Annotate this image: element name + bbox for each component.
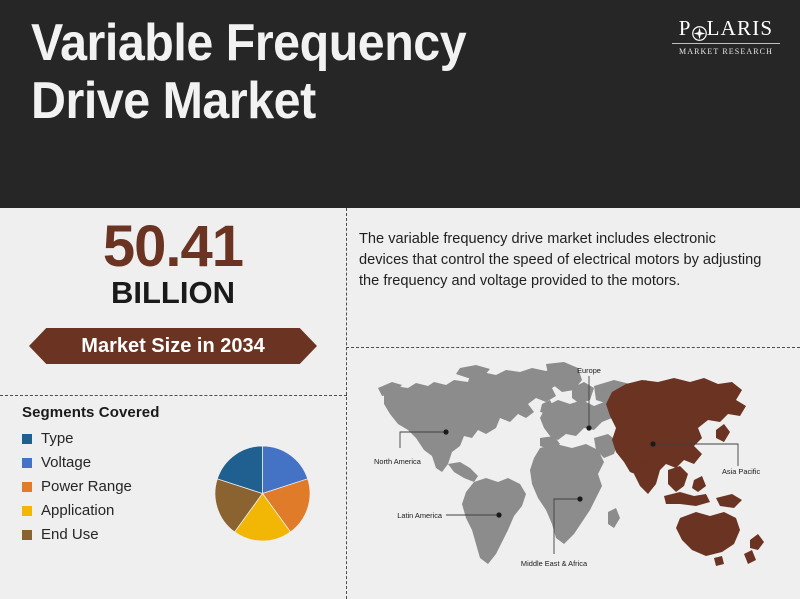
map-dot-middle-east-africa xyxy=(577,496,582,501)
legend-label-voltage: Voltage xyxy=(41,454,91,471)
world-map: North America Europe Asia Pacific Latin … xyxy=(350,352,800,599)
map-dot-asia-pacific xyxy=(650,441,655,446)
legend-swatch-power-range xyxy=(22,482,32,492)
pie-slices xyxy=(215,446,310,541)
horizontal-divider-left xyxy=(0,395,347,396)
list-item: Voltage xyxy=(22,454,202,471)
region-australia-shape xyxy=(676,512,740,556)
infographic-page: Variable Frequency Drive Market P LARIS … xyxy=(0,0,800,599)
map-label-middle-east-africa: Middle East & Africa xyxy=(521,559,588,568)
stat-unit: BILLION xyxy=(0,276,346,310)
region-new-zealand-shape xyxy=(750,534,764,550)
legend-label-power-range: Power Range xyxy=(41,478,132,495)
stat-value: 50.41 xyxy=(0,216,346,278)
page-title: Variable Frequency Drive Market xyxy=(31,14,608,130)
logo-wordmark: P LARIS xyxy=(670,16,782,40)
list-item: Type xyxy=(22,430,202,447)
map-dot-north-america xyxy=(443,429,448,434)
list-item: Power Range xyxy=(22,478,202,495)
legend-label-application: Application xyxy=(41,502,114,519)
market-size-ribbon: Market Size in 2034 xyxy=(29,328,317,364)
market-size-stat: 50.41 BILLION xyxy=(0,216,346,310)
region-south-america-shape xyxy=(462,478,526,564)
segments-pie-chart xyxy=(214,445,311,542)
map-label-europe: Europe xyxy=(577,366,601,375)
map-label-asia-pacific: Asia Pacific xyxy=(722,467,761,476)
region-central-america-shape xyxy=(448,462,478,482)
pie-chart-svg xyxy=(214,445,311,542)
region-new-zealand-south-shape xyxy=(744,550,756,564)
legend-swatch-application xyxy=(22,506,32,516)
legend-label-type: Type xyxy=(41,430,74,447)
map-label-latin-america: Latin America xyxy=(397,511,443,520)
legend-swatch-voltage xyxy=(22,458,32,468)
region-africa-shape xyxy=(530,444,604,544)
legend-label-end-use: End Use xyxy=(41,526,99,543)
logo-word-prefix: P xyxy=(679,16,692,40)
horizontal-divider-right xyxy=(346,347,800,348)
logo-word-suffix: LARIS xyxy=(707,16,774,40)
compass-star-icon xyxy=(692,22,707,37)
region-new-guinea-shape xyxy=(716,494,742,508)
vertical-divider xyxy=(346,208,347,599)
logo-divider xyxy=(672,43,780,44)
region-indonesia-shape xyxy=(664,492,710,506)
segments-covered-panel: Segments Covered Type Voltage Power Rang… xyxy=(22,404,202,550)
region-tasmania-shape xyxy=(714,556,724,566)
list-item: Application xyxy=(22,502,202,519)
list-item: End Use xyxy=(22,526,202,543)
region-india-shape xyxy=(634,462,660,494)
map-dot-latin-america xyxy=(496,512,501,517)
world-map-svg: North America Europe Asia Pacific Latin … xyxy=(350,352,800,599)
segments-title: Segments Covered xyxy=(22,404,202,421)
market-description: The variable frequency drive market incl… xyxy=(359,229,763,292)
legend-swatch-type xyxy=(22,434,32,444)
polaris-logo: P LARIS MARKET RESEARCH xyxy=(670,16,782,56)
header-banner: Variable Frequency Drive Market P LARIS … xyxy=(0,0,800,208)
region-southeast-asia-shape xyxy=(668,466,688,492)
legend-swatch-end-use xyxy=(22,530,32,540)
map-label-north-america: North America xyxy=(374,457,422,466)
region-madagascar-shape xyxy=(608,508,620,528)
region-japan-shape xyxy=(716,424,730,442)
logo-subtitle: MARKET RESEARCH xyxy=(670,47,782,56)
region-philippines-shape xyxy=(692,476,706,492)
map-dot-europe xyxy=(586,425,591,430)
